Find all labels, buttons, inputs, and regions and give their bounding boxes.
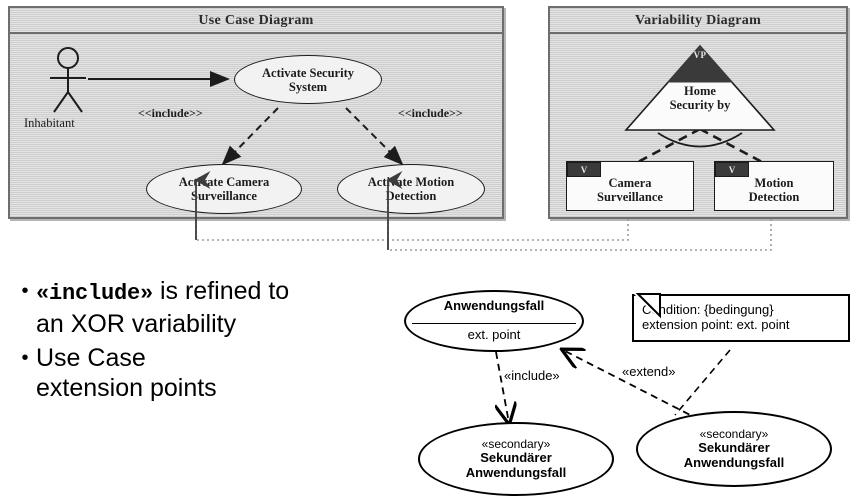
variant-tag-v: V [567, 162, 601, 177]
vp-triangle-icon [624, 44, 776, 132]
use-case-diagram-panel: Use Case Diagram [8, 6, 504, 219]
include-label-left: <<include>> [138, 106, 203, 121]
note-line2: extension point: ext. point [642, 317, 840, 332]
compartment-divider [412, 323, 576, 324]
use-case-secondary-left[interactable]: «secondary» Sekundärer Anwendungsfall [418, 422, 614, 496]
note-condition[interactable]: Condition: {bedingung} extension point: … [632, 294, 850, 342]
uc-line2: Surveillance [179, 189, 270, 203]
variant-line2: Surveillance [597, 190, 663, 204]
variant-tag-v: V [715, 162, 749, 177]
secondary-right-line1: Sekundärer [698, 441, 770, 456]
extend-edge-label: «extend» [622, 364, 676, 379]
variant-line2: Detection [749, 190, 800, 204]
secondary-right-stereotype: «secondary» [700, 428, 769, 441]
bullet-marker: • [14, 276, 36, 306]
list-item: • «include» is refined to an XOR variabi… [14, 276, 414, 339]
stick-figure-actor-icon [46, 46, 106, 118]
variation-point-home-security[interactable]: VP Home Security by [624, 44, 776, 132]
variability-diagram-panel: Variability Diagram VP Home Security [548, 6, 848, 219]
edge-note-anchor [675, 350, 730, 415]
variant-line1: Motion [749, 176, 800, 190]
bullet-line2: an XOR variability [36, 309, 289, 339]
use-case-secondary-right[interactable]: «secondary» Sekundärer Anwendungsfall [636, 411, 832, 487]
edge-include-motion [346, 108, 402, 164]
use-case-diagram-body: Inhabitant Activate Security System <<in… [10, 34, 502, 217]
variant-line1: Camera [597, 176, 663, 190]
include-label-right: <<include>> [398, 106, 463, 121]
uc-line2: System [262, 80, 354, 94]
use-case-activate-security-system[interactable]: Activate Security System [234, 55, 382, 104]
note-fold-icon [634, 294, 660, 320]
uc-line1: Activate Camera [179, 175, 270, 189]
note-line1: Condition: {bedingung} [642, 302, 840, 317]
use-case-activate-camera-surveillance[interactable]: Activate Camera Surveillance [146, 164, 302, 214]
bullet-rest: is refined to [153, 277, 289, 305]
use-case-activate-motion-detection[interactable]: Activate Motion Detection [337, 164, 485, 214]
anwendungsfall-name: Anwendungsfall [444, 299, 544, 314]
bullet-body: Use Case extension points [36, 343, 217, 403]
variability-diagram-body: VP Home Security by V Camera Surveillanc… [550, 34, 846, 217]
bullet-body: «include» is refined to an XOR variabili… [36, 276, 289, 339]
extension-point-diagram: Anwendungsfall ext. point Condition: {be… [400, 280, 866, 503]
use-case-diagram-title: Use Case Diagram [10, 8, 502, 34]
list-item: • Use Case extension points [14, 343, 414, 403]
include-edge-label: «include» [504, 368, 560, 383]
variant-camera-surveillance[interactable]: V Camera Surveillance [566, 161, 694, 211]
edge-include [496, 352, 509, 423]
uc-line1: Activate Security [262, 66, 354, 80]
secondary-left-line1: Sekundärer [480, 451, 552, 466]
variant-motion-detection[interactable]: V Motion Detection [714, 161, 834, 211]
bullet-rest: Use Case [36, 343, 217, 373]
bullet-mono-include: «include» [36, 281, 153, 306]
variability-diagram-title: Variability Diagram [550, 8, 846, 34]
use-case-anwendungsfall[interactable]: Anwendungsfall ext. point [404, 290, 584, 352]
anwendungsfall-ext-point: ext. point [468, 328, 521, 343]
bullet-list: • «include» is refined to an XOR variabi… [14, 276, 414, 407]
actor-label: Inhabitant [24, 116, 75, 131]
bullet-marker: • [14, 343, 36, 373]
uc-line1: Activate Motion [368, 175, 454, 189]
uc-line2: Detection [368, 189, 454, 203]
edge-include-camera [223, 108, 278, 164]
secondary-left-line2: Anwendungsfall [466, 466, 566, 481]
slide-root: Use Case Diagram [0, 0, 866, 503]
bullet-line2: extension points [36, 373, 217, 403]
secondary-right-line2: Anwendungsfall [684, 456, 784, 471]
secondary-left-stereotype: «secondary» [482, 438, 551, 451]
